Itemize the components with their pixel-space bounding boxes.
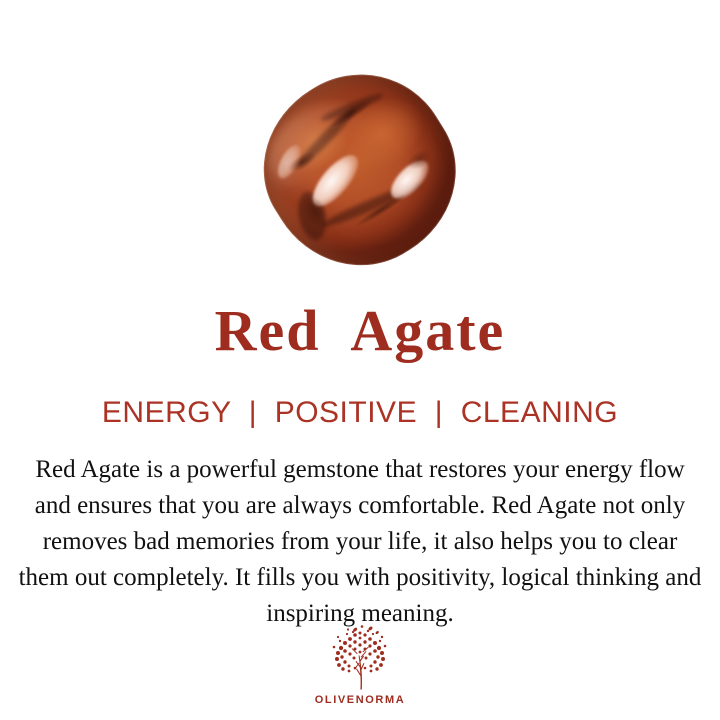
stone-vein <box>319 91 385 125</box>
tree-icon <box>324 623 396 691</box>
stone-gloss <box>252 83 392 211</box>
stone-highlight <box>273 142 305 183</box>
product-info-card: Red Agate ENERGY | POSITIVE | CLEANING R… <box>0 0 720 720</box>
stone-rim-light <box>231 41 488 299</box>
stone-body <box>231 41 488 299</box>
stone-highlight <box>385 154 435 204</box>
stone-highlight <box>306 148 367 213</box>
product-description: Red Agate is a powerful gemstone that re… <box>16 452 704 632</box>
keyword-line: ENERGY | POSITIVE | CLEANING <box>0 396 720 430</box>
brand-name: OLIVENORMA <box>315 694 406 706</box>
red-agate-stone-image <box>255 62 465 277</box>
page-title: Red Agate <box>0 300 720 362</box>
brand-logo: OLIVENORMA <box>0 623 720 706</box>
stone-vein <box>294 189 330 242</box>
stone-vein <box>294 104 359 171</box>
stone-vein <box>319 179 423 232</box>
stone-shape <box>231 41 488 299</box>
